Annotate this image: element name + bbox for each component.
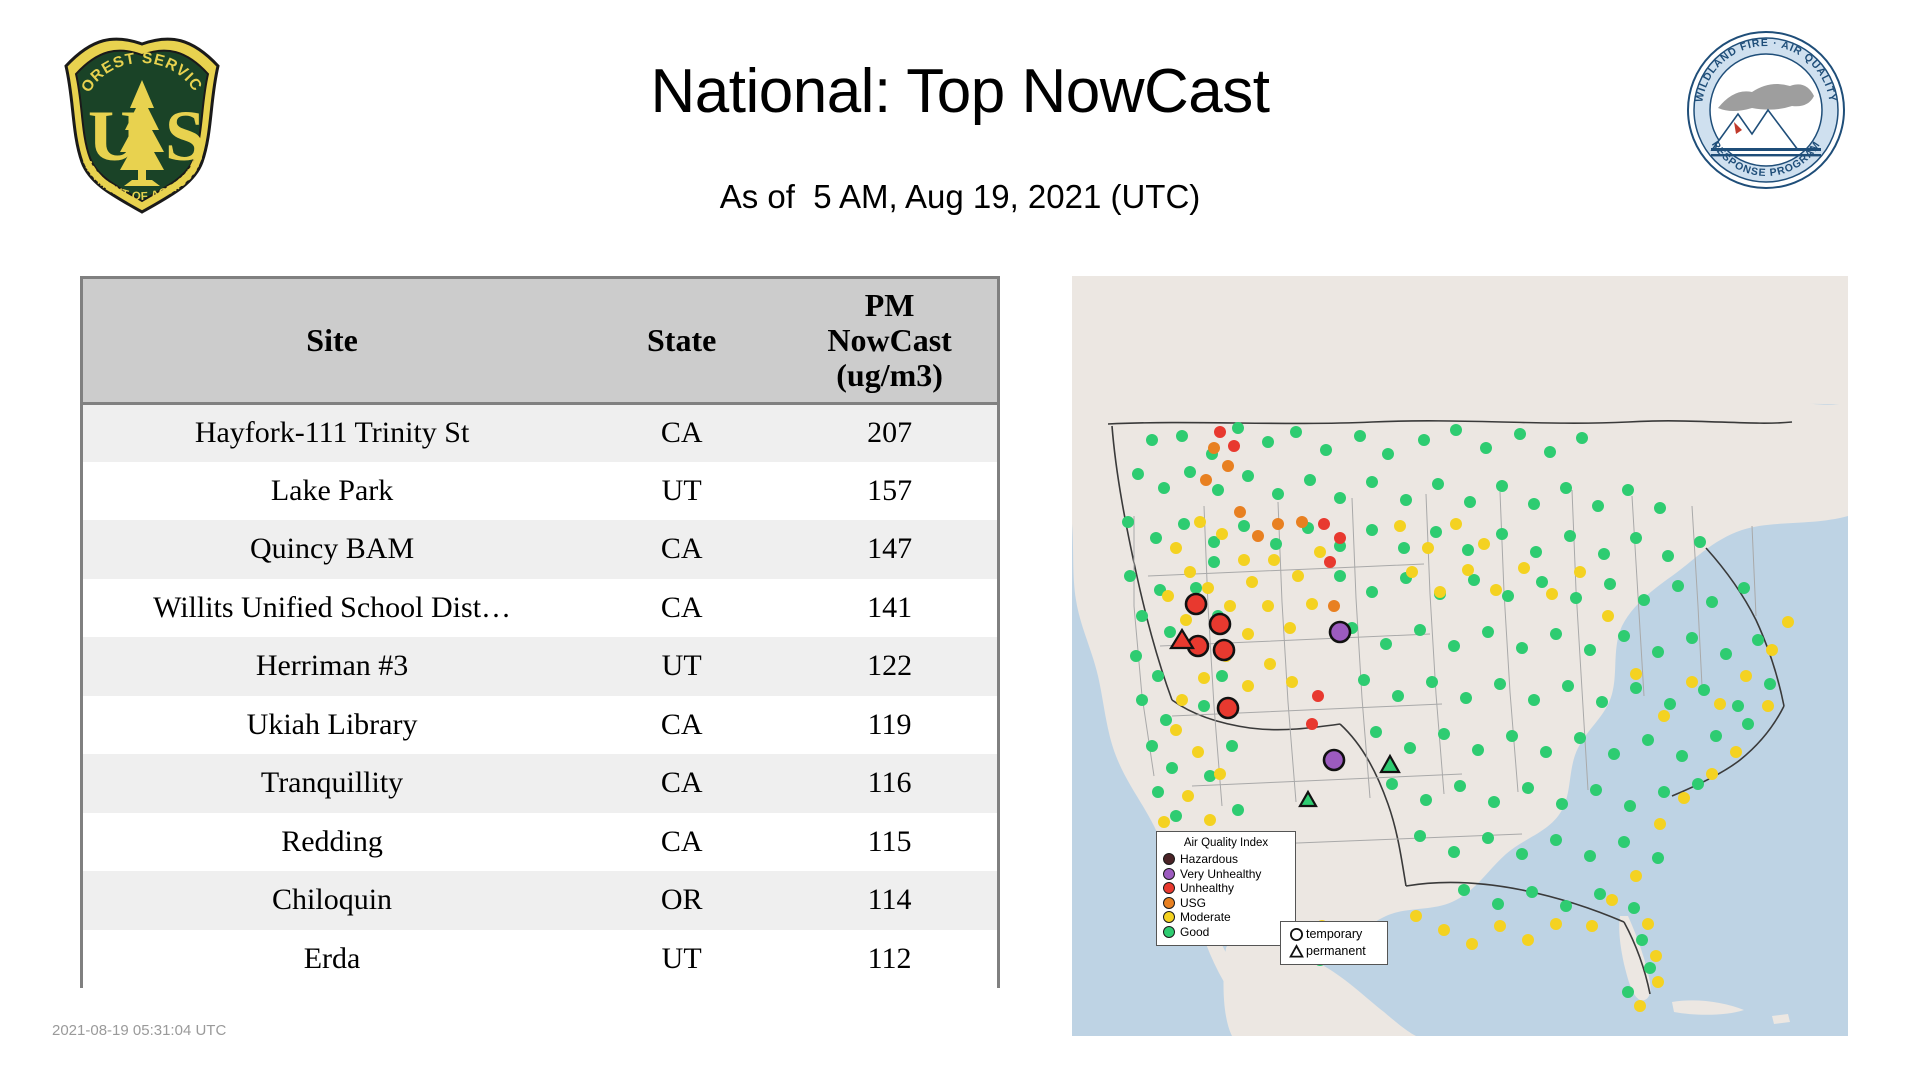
value-cell: 112 xyxy=(782,930,997,989)
legend-row-temporary: temporary xyxy=(1286,926,1382,943)
site-cell: Chiloquin xyxy=(83,871,581,930)
aqi-color-swatch-icon xyxy=(1163,882,1175,894)
legend-label-temporary: temporary xyxy=(1306,928,1362,941)
aqi-legend-row: Hazardous xyxy=(1163,852,1289,867)
aqi-legend-label: Good xyxy=(1180,926,1209,938)
site-cell: Quincy BAM xyxy=(83,520,581,579)
site-marker-ukiah xyxy=(1214,640,1234,660)
site-cell: Ukiah Library xyxy=(83,696,581,755)
top-nowcast-table: Site State PM NowCast (ug/m3) Hayfork-11… xyxy=(80,276,1000,988)
site-cell: Tranquillity xyxy=(83,754,581,813)
value-cell: 115 xyxy=(782,813,997,872)
table-header-row: Site State PM NowCast (ug/m3) xyxy=(83,279,997,403)
national-aqi-map: Air Quality Index HazardousVery Unhealth… xyxy=(1072,276,1848,1036)
state-cell: CA xyxy=(581,403,782,462)
value-cell: 114 xyxy=(782,871,997,930)
site-cell: Herriman #3 xyxy=(83,637,581,696)
state-cell: CA xyxy=(581,579,782,638)
temporary-monitor-icon xyxy=(1286,927,1306,942)
table-row: TranquillityCA116 xyxy=(83,754,997,813)
aqi-legend-label: Unhealthy xyxy=(1180,882,1234,894)
table-row: Quincy BAMCA147 xyxy=(83,520,997,579)
table-row: Herriman #3UT122 xyxy=(83,637,997,696)
aqi-legend-row: Unhealthy xyxy=(1163,881,1289,896)
aqi-legend-row: USG xyxy=(1163,896,1289,911)
aqi-color-swatch-icon xyxy=(1163,926,1175,938)
page-subtitle: As of 5 AM, Aug 19, 2021 (UTC) xyxy=(300,178,1620,216)
aqi-legend-title: Air Quality Index xyxy=(1163,837,1289,849)
site-marker-tranquillity xyxy=(1218,698,1238,718)
value-cell: 157 xyxy=(782,462,997,521)
pm-header-line2: NowCast xyxy=(786,323,993,358)
aqi-color-swatch-icon xyxy=(1163,897,1175,909)
generation-timestamp: 2021-08-19 05:31:04 UTC xyxy=(52,1022,226,1039)
wfaq-response-program-logo-icon: WILDLAND FIRE · AIR QUALITY RESPONSE PRO… xyxy=(1686,30,1846,190)
aqi-legend: Air Quality Index HazardousVery Unhealth… xyxy=(1156,831,1296,946)
aqi-legend-label: Hazardous xyxy=(1180,853,1238,865)
table-row: Willits Unified School Dist…CA141 xyxy=(83,579,997,638)
value-cell: 116 xyxy=(782,754,997,813)
state-cell: CA xyxy=(581,520,782,579)
aqi-color-swatch-icon xyxy=(1163,868,1175,880)
aqi-legend-row: Good xyxy=(1163,925,1289,940)
site-marker-hayfork xyxy=(1186,594,1206,614)
site-cell: Redding xyxy=(83,813,581,872)
aqi-legend-row: Very Unhealthy xyxy=(1163,867,1289,882)
site-cell: Erda xyxy=(83,930,581,989)
site-marker-quincy xyxy=(1210,614,1230,634)
pm-header-line3: (ug/m3) xyxy=(786,358,993,393)
aqi-color-swatch-icon xyxy=(1163,911,1175,923)
table-body: Hayfork-111 Trinity StCA207Lake ParkUT15… xyxy=(83,403,997,988)
site-cell: Hayfork-111 Trinity St xyxy=(83,403,581,462)
aqi-legend-row: Moderate xyxy=(1163,910,1289,925)
value-cell: 207 xyxy=(782,403,997,462)
aqi-color-swatch-icon xyxy=(1163,853,1175,865)
forest-service-logo-icon: FOREST SERVICE U S DEPARTMENT OF AGRICUL… xyxy=(52,30,232,215)
column-header-pm-nowcast: PM NowCast (ug/m3) xyxy=(782,279,997,403)
column-header-site: Site xyxy=(83,279,581,403)
legend-label-permanent: permanent xyxy=(1306,945,1366,958)
aqi-legend-items: HazardousVery UnhealthyUnhealthyUSGModer… xyxy=(1163,852,1289,939)
table-row: Lake ParkUT157 xyxy=(83,462,997,521)
aqi-legend-label: USG xyxy=(1180,897,1206,909)
table-row: ErdaUT112 xyxy=(83,930,997,989)
table-row: ChiloquinOR114 xyxy=(83,871,997,930)
state-cell: OR xyxy=(581,871,782,930)
pm-header-line1: PM xyxy=(786,288,993,323)
state-cell: CA xyxy=(581,754,782,813)
table-row: Ukiah LibraryCA119 xyxy=(83,696,997,755)
monitor-type-legend: temporary permanent xyxy=(1280,921,1388,965)
state-cell: CA xyxy=(581,813,782,872)
site-cell: Willits Unified School Dist… xyxy=(83,579,581,638)
aqi-legend-label: Very Unhealthy xyxy=(1180,868,1261,880)
site-marker-lake-park xyxy=(1330,622,1350,642)
aqi-legend-label: Moderate xyxy=(1180,911,1231,923)
value-cell: 122 xyxy=(782,637,997,696)
state-cell: UT xyxy=(581,462,782,521)
column-header-state: State xyxy=(581,279,782,403)
site-marker-herriman xyxy=(1324,750,1344,770)
site-cell: Lake Park xyxy=(83,462,581,521)
value-cell: 119 xyxy=(782,696,997,755)
legend-row-permanent: permanent xyxy=(1286,943,1382,960)
value-cell: 141 xyxy=(782,579,997,638)
page-title: National: Top NowCast xyxy=(300,56,1620,127)
value-cell: 147 xyxy=(782,520,997,579)
state-cell: UT xyxy=(581,930,782,989)
slide-canvas: FOREST SERVICE U S DEPARTMENT OF AGRICUL… xyxy=(0,0,1920,1080)
table-row: Hayfork-111 Trinity StCA207 xyxy=(83,403,997,462)
state-cell: UT xyxy=(581,637,782,696)
permanent-monitor-icon xyxy=(1286,944,1306,959)
table-row: ReddingCA115 xyxy=(83,813,997,872)
state-cell: CA xyxy=(581,696,782,755)
